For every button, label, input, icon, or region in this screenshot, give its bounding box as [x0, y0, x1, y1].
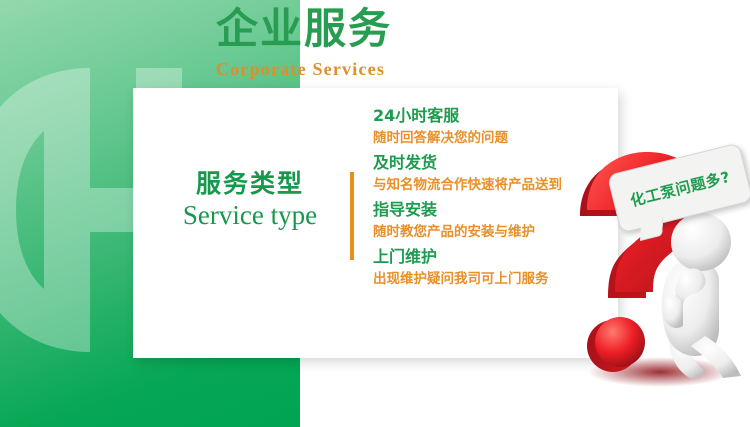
question-mark-dot — [595, 317, 645, 367]
service-title: 24小时客服 — [373, 104, 618, 128]
service-desc: 随时回答解决您的问题 — [373, 128, 618, 149]
vertical-divider — [350, 172, 354, 260]
thinking-figure-icon — [662, 213, 741, 380]
service-type-label-en: Service type — [160, 199, 340, 233]
slide-canvas: 企业服务 Corporate Services 服务类型 Service typ… — [0, 0, 750, 427]
service-type-label: 服务类型 Service type — [160, 170, 340, 233]
service-type-label-cn: 服务类型 — [160, 170, 340, 199]
list-item: 24小时客服 随时回答解决您的问题 — [373, 104, 618, 149]
